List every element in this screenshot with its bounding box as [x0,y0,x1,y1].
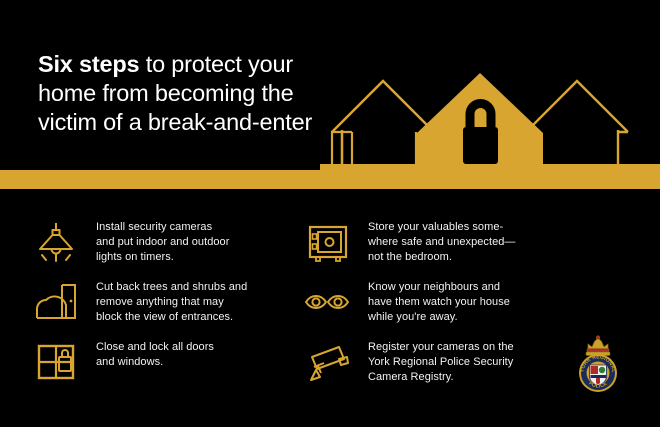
tip-register-your-cameras: Register your cameras on the York Region… [302,336,592,396]
three-houses-illustration [320,60,660,172]
tip-text: Store your valuables some- where safe an… [354,216,515,266]
page-title: Six steps to protect your home from beco… [38,50,328,137]
tips-section: Install security cameras and put indoor … [0,189,660,427]
york-regional-police-crest: YORK REGIONAL POLICE [569,334,627,396]
locked-window-icon [30,336,82,388]
tip-store-your-valuables: Store your valuables some- where safe an… [302,216,592,276]
tip-cut-back-trees-and-shrubs: Cut back trees and shrubs and remove any… [30,276,320,336]
cctv-camera-icon [302,336,354,388]
tip-text: Register your cameras on the York Region… [354,336,514,386]
two-eyes-icon [302,276,354,328]
shrub-and-door-icon [30,276,82,328]
pendant-lamp-icon [30,216,82,268]
header-section: Six steps to protect your home from beco… [0,0,660,170]
headline-lead: Six steps [38,51,139,77]
tip-text: Close and lock all doors and windows. [82,336,214,370]
tip-close-and-lock-doors: Close and lock all doors and windows. [30,336,320,396]
tip-text: Know your neighbours and have them watch… [354,276,510,326]
safe-icon [302,216,354,268]
tip-know-your-neighbours: Know your neighbours and have them watch… [302,276,592,336]
gold-divider-bar [0,170,660,189]
infographic-poster: Six steps to protect your home from beco… [0,0,660,427]
tip-text: Install security cameras and put indoor … [82,216,229,266]
tip-text: Cut back trees and shrubs and remove any… [82,276,247,326]
tip-install-security-cameras: Install security cameras and put indoor … [30,216,320,276]
